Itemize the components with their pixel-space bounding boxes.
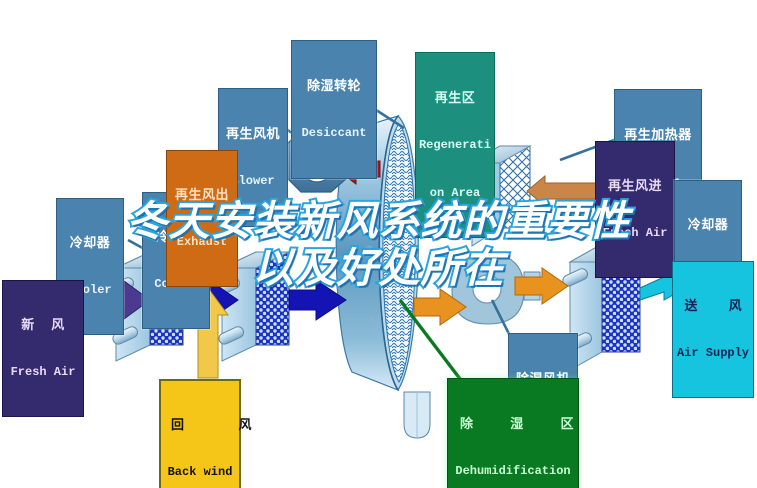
label-fresh-air-cn: 新 风: [5, 318, 81, 332]
label-air-supply[interactable]: 送 风 Air Supply: [672, 261, 754, 398]
label-dehumidification-district-en1: Dehumidification: [450, 465, 576, 478]
label-air-supply-en: Air Supply: [675, 347, 751, 360]
label-regeneration-area-en2: on Area: [418, 187, 492, 200]
label-regen-fresh-air[interactable]: 再生风进 Fresh Air: [595, 141, 675, 278]
label-dehumidification-district[interactable]: 除 湿 区 Dehumidification District: [447, 378, 579, 488]
label-regeneration-area-en1: Regenerati: [418, 139, 492, 152]
label-desiccant-en: Desiccant: [294, 127, 374, 140]
label-regen-heater-cn: 再生加热器: [617, 128, 699, 142]
label-regeneration-area-cn: 再生区: [418, 91, 492, 105]
label-back-wind-cn: 回 风: [163, 418, 237, 432]
label-cooler-left-1-cn: 冷却器: [59, 236, 121, 250]
label-regeneration-area[interactable]: 再生区 Regenerati on Area: [415, 52, 495, 238]
label-exhaust[interactable]: 再生风出 Exhaust: [166, 150, 238, 287]
label-cooler-right-cn: 冷却器: [677, 218, 739, 232]
diagram-canvas: X1: [0, 0, 757, 488]
label-back-wind-en: Back wind: [163, 466, 237, 479]
label-exhaust-en: Exhaust: [169, 236, 235, 249]
label-dehumidification-district-cn: 除 湿 区: [450, 417, 576, 431]
label-regen-fresh-air-en: Fresh Air: [598, 227, 672, 240]
label-fresh-air-en: Fresh Air: [5, 366, 81, 379]
label-air-supply-cn: 送 风: [675, 299, 751, 313]
label-exhaust-cn: 再生风出: [169, 188, 235, 202]
label-fresh-air[interactable]: 新 风 Fresh Air: [2, 280, 84, 417]
label-desiccant[interactable]: 除湿转轮 Desiccant: [291, 40, 377, 179]
label-back-wind[interactable]: 回 风 Back wind: [159, 379, 241, 488]
label-regen-blower-cn: 再生风机: [221, 127, 285, 141]
svg-text:X1: X1: [368, 313, 381, 325]
label-regen-fresh-air-cn: 再生风进: [598, 179, 672, 193]
label-desiccant-cn: 除湿转轮: [294, 79, 374, 93]
